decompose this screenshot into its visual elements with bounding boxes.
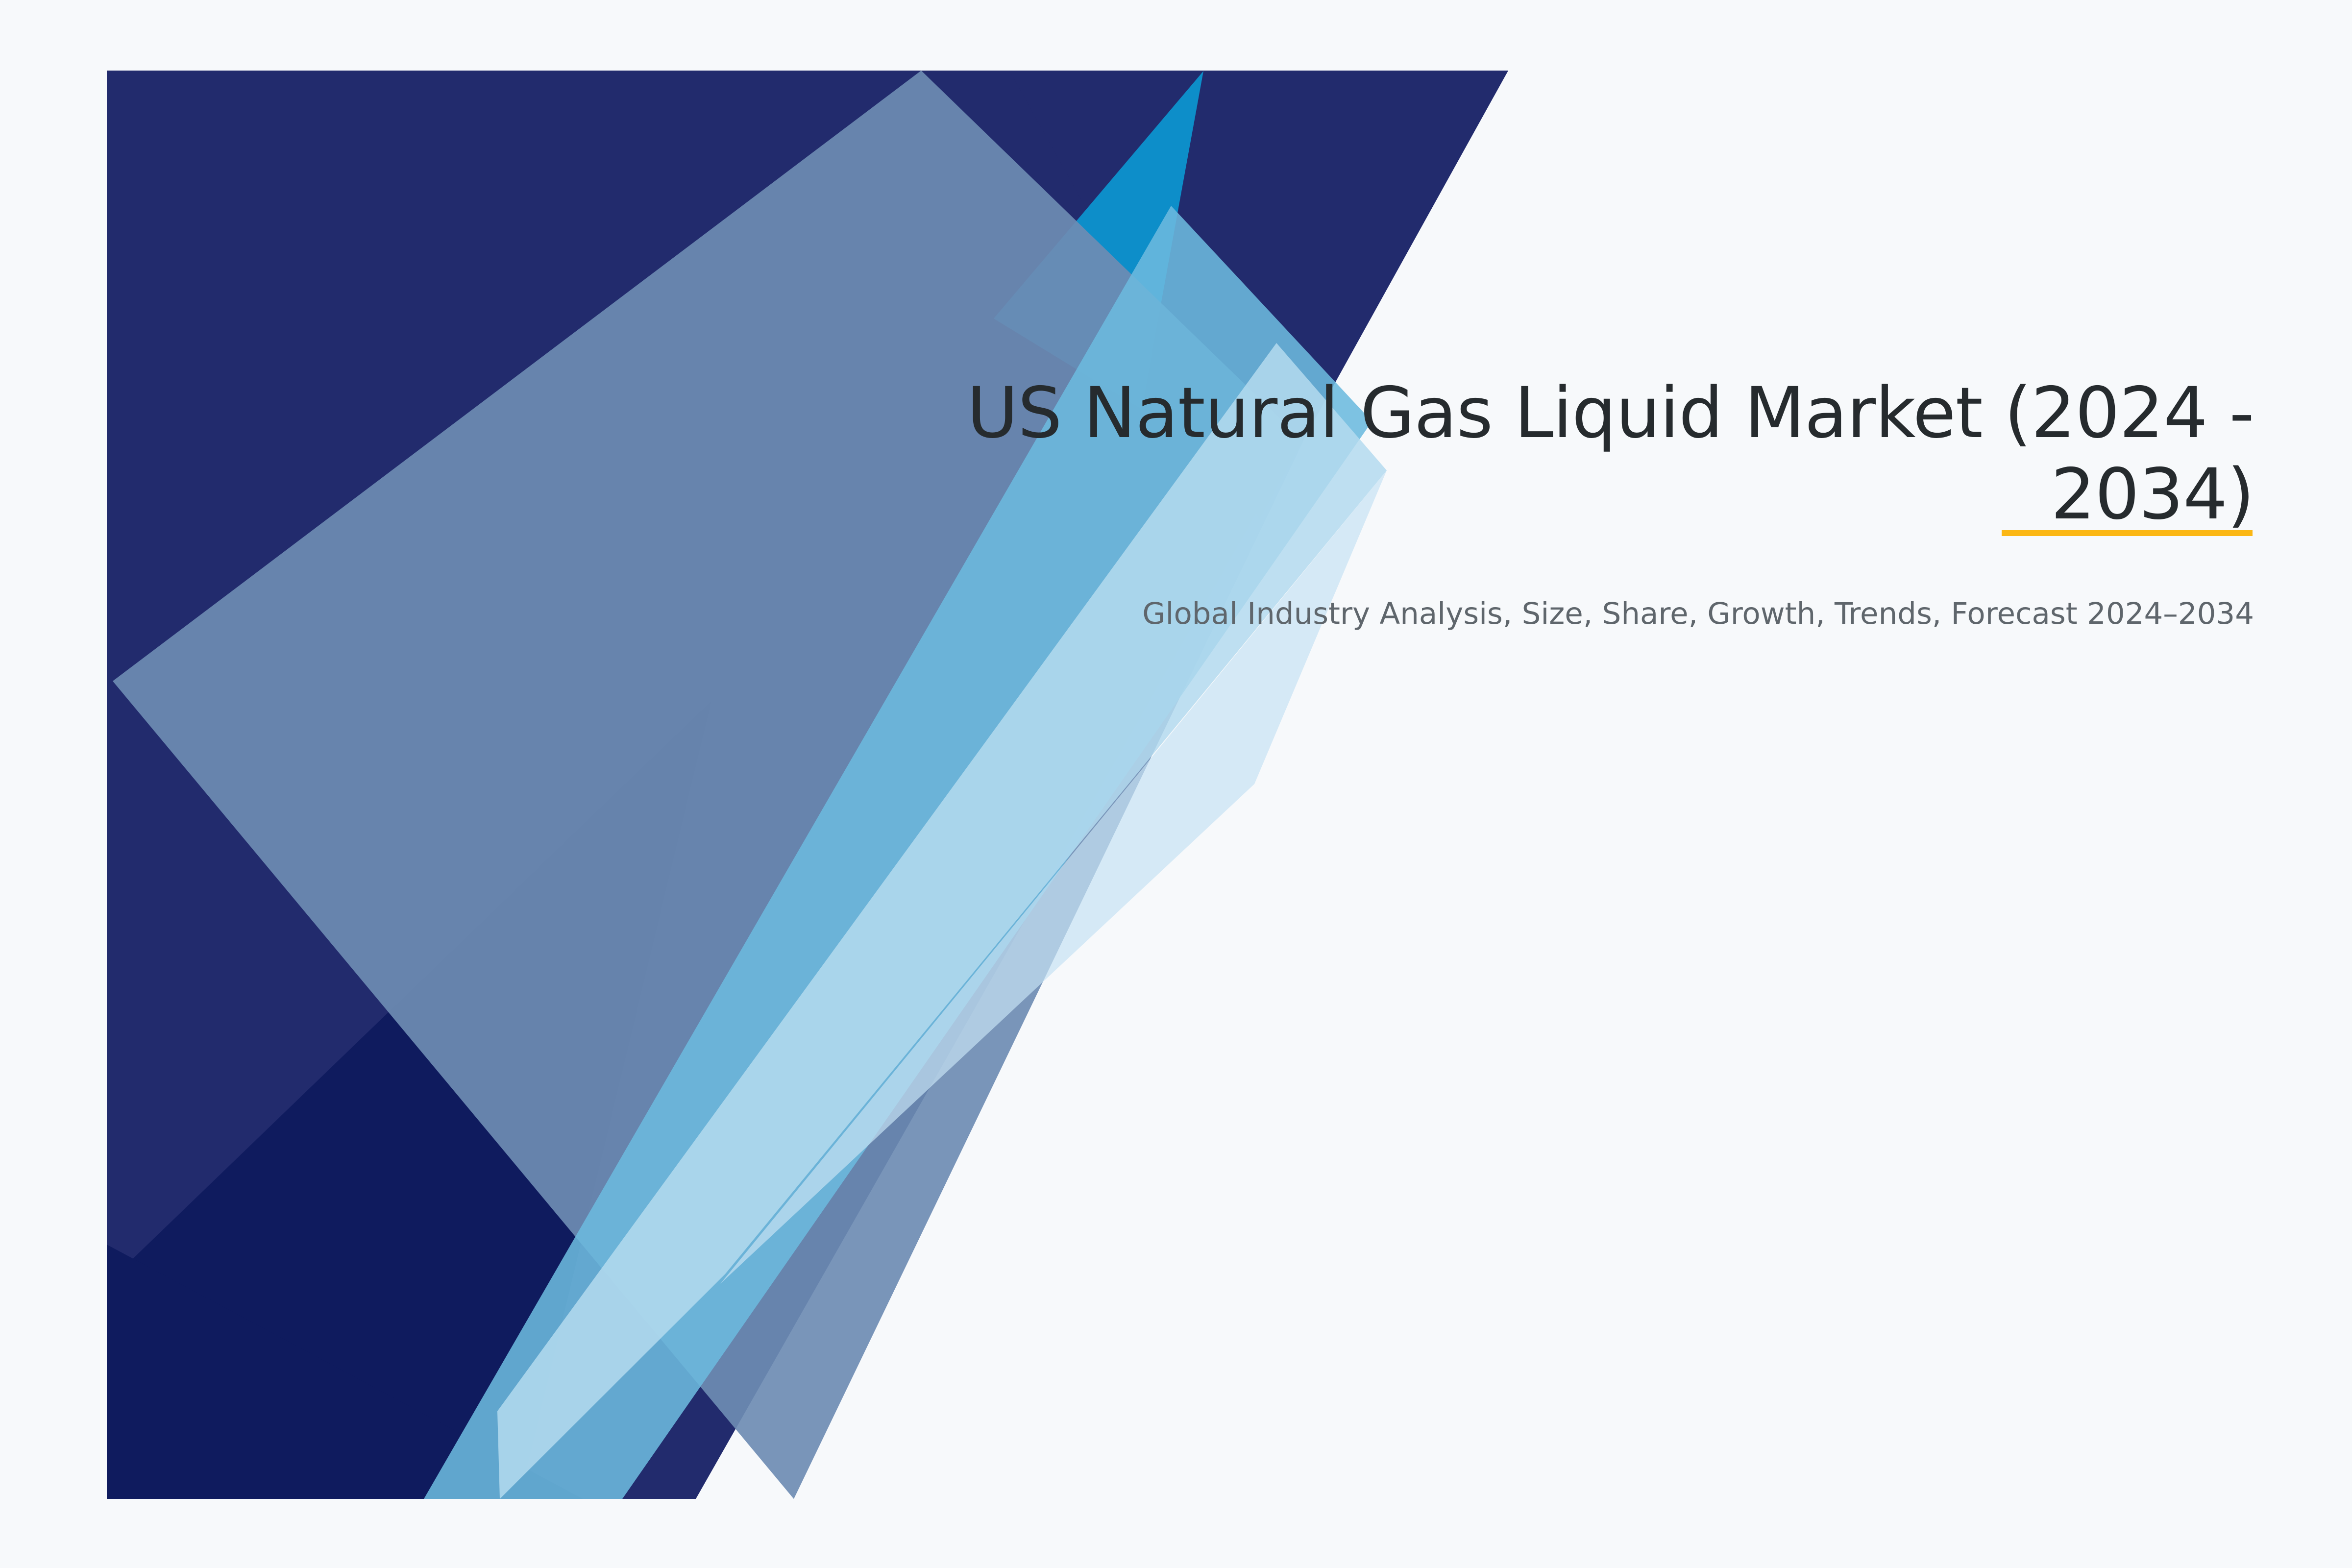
deep-navy-wedge: [107, 701, 711, 1499]
cover-text-block: US Natural Gas Liquid Market (2024 - 203…: [906, 372, 2254, 634]
cover-page: US Natural Gas Liquid Market (2024 - 203…: [0, 0, 2352, 1568]
page-title: US Natural Gas Liquid Market (2024 - 203…: [906, 372, 2254, 535]
abstract-geometric-artwork: [0, 0, 2352, 1568]
page-subtitle: Global Industry Analysis, Size, Share, G…: [906, 594, 2254, 634]
deep-navy-lower-left: [107, 1245, 583, 1499]
cyan-spike: [994, 71, 1203, 409]
slate-blue-quad: [113, 71, 1303, 1499]
navy-upper-band: [107, 71, 1508, 1499]
